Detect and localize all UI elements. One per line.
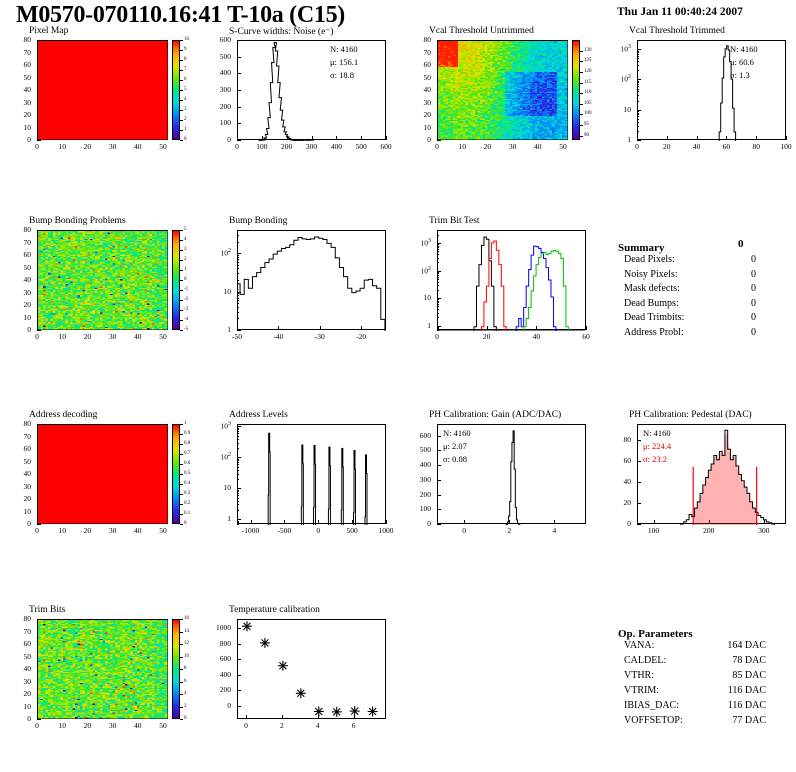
colorbar-tick-label: 4: [184, 237, 187, 242]
parameter-label: VANA:: [624, 640, 654, 651]
x-tick-label: 50: [149, 526, 177, 535]
y-tick-label: 103: [205, 421, 231, 431]
x-tick-label: 500: [338, 526, 366, 535]
y-tick-label: 50: [5, 263, 31, 272]
parameter-row: Noisy Pixels:0: [618, 269, 788, 284]
colorbar-tick: [180, 240, 183, 241]
colorbar-tick-label: 7: [184, 67, 187, 72]
y-tick-label: 0: [5, 325, 31, 334]
y-tick-label: 70: [5, 238, 31, 247]
colorbar-tick: [180, 474, 183, 475]
y-tick-label: 100: [205, 118, 231, 127]
y-tick-label: 20: [5, 300, 31, 309]
parameter-label: VOFFSETOP:: [624, 715, 683, 726]
plot-pixel-map: Pixel Map0102030405001020304050607080012…: [5, 26, 190, 156]
colorbar-tick-label: 3: [184, 107, 187, 112]
y-tick-label: 70: [5, 627, 31, 636]
plot-trim-bit-test: Trim Bit Test0204060110102103: [405, 216, 590, 346]
plot-data-layer: [438, 41, 569, 141]
x-tick-label: 20: [473, 142, 501, 151]
colorbar-tick: [580, 114, 583, 115]
plot-title: S-Curve widths: Noise (e⁻): [229, 26, 334, 37]
y-tick-label: 80: [5, 35, 31, 44]
plot-title: Bump Bonding Problems: [29, 216, 126, 226]
colorbar-tick: [180, 270, 183, 271]
x-tick-label: 20: [653, 142, 681, 151]
colorbar-tick-label: 0: [184, 716, 187, 721]
colorbar-tick: [180, 424, 183, 425]
x-tick-label: 30: [99, 721, 127, 730]
plot-title: Pixel Map: [29, 26, 68, 36]
colorbar-tick-label: 6: [184, 679, 187, 684]
y-tick-label: 0: [205, 135, 231, 144]
stat-N: N: 4160: [443, 428, 471, 438]
colorbar-tick-label: 0: [184, 277, 187, 282]
x-tick-label: 30: [99, 526, 127, 535]
colorbar-tick-label: 5: [184, 87, 187, 92]
x-tick-label: 200: [695, 526, 723, 535]
x-tick-label: 60: [712, 142, 740, 151]
y-tick-label: 20: [5, 494, 31, 503]
y-tick-label: 200: [205, 102, 231, 111]
y-tick-label: 1: [405, 321, 431, 330]
parameter-label: VTHR:: [624, 670, 654, 681]
y-tick-label: 60: [5, 60, 31, 69]
x-tick-label: 30: [99, 332, 127, 341]
y-tick-label: 0: [205, 701, 231, 710]
x-tick-label: 0: [450, 526, 478, 535]
colorbar-tick: [180, 454, 183, 455]
x-tick-label: 100: [248, 142, 276, 151]
y-tick-label: 80: [405, 35, 431, 44]
parameter-value: 116 DAC: [726, 700, 766, 711]
x-tick-label: 40: [522, 332, 550, 341]
plot-temperature-calibration: Temperature calibration02460200400600800…: [205, 605, 390, 735]
colorbar-tick-label: 4: [184, 691, 187, 696]
colorbar-tick: [180, 310, 183, 311]
y-tick-label: 70: [405, 48, 431, 57]
x-tick-label: 500: [347, 142, 375, 151]
colorbar-tick-label: 0.5: [184, 471, 190, 476]
y-tick-label: 300: [205, 85, 231, 94]
stat-mu: μ: 2.07: [443, 441, 467, 451]
x-tick-label: 600: [372, 142, 400, 151]
colorbar-tick: [180, 50, 183, 51]
y-tick-label: 20: [5, 110, 31, 119]
y-tick-label: 10: [605, 105, 631, 114]
colorbar-tick: [180, 100, 183, 101]
y-tick-label: 80: [5, 225, 31, 234]
plot-data-layer: [38, 425, 169, 525]
stat-mu: μ: 156.1: [330, 57, 358, 67]
plot-title: Address Levels: [229, 410, 288, 420]
colorbar-tick: [180, 669, 183, 670]
y-tick-label: 0: [405, 519, 431, 528]
y-tick-label: 102: [205, 452, 231, 462]
y-tick-label: 80: [5, 614, 31, 623]
y-tick-label: 400: [205, 670, 231, 679]
y-tick-label: 50: [5, 652, 31, 661]
y-tick-label: 500: [205, 52, 231, 61]
colorbar-tick-label: 0.6: [184, 461, 190, 466]
y-tick-label: 1: [205, 514, 231, 523]
parameter-value: 77 DAC: [726, 715, 766, 726]
plot-data-layer: [438, 425, 587, 525]
plot-title: Vcal Threshold Trimmed: [629, 26, 725, 36]
colorbar-tick: [180, 484, 183, 485]
colorbar-tick: [180, 230, 183, 231]
colorbar-tick: [580, 83, 583, 84]
y-tick-label: 50: [405, 73, 431, 82]
colorbar-tick-label: 10: [184, 37, 189, 42]
colorbar-tick: [180, 300, 183, 301]
colorbar-tick-label: 115: [584, 80, 591, 85]
x-tick-label: -500: [270, 526, 298, 535]
y-tick-label: 70: [5, 48, 31, 57]
colorbar-tick: [180, 110, 183, 111]
x-tick-label: 2: [268, 721, 296, 730]
colorbar-tick: [180, 524, 183, 525]
y-tick-label: 80: [605, 435, 631, 444]
colorbar-tick-label: 110: [584, 90, 591, 95]
x-tick-label: 30: [99, 142, 127, 151]
colorbar-tick-label: -1: [184, 287, 188, 292]
x-tick-label: 20: [73, 142, 101, 151]
colorbar-tick: [180, 290, 183, 291]
colorbar-tick-label: 0.4: [184, 481, 190, 486]
y-tick-label: 200: [205, 685, 231, 694]
y-tick-label: 80: [5, 419, 31, 428]
colorbar-tick-label: 125: [584, 58, 592, 63]
y-tick-label: 102: [605, 74, 631, 84]
colorbar-tick-label: 0.8: [184, 441, 190, 446]
x-tick-label: 1000: [372, 526, 400, 535]
parameter-row: Dead Trimbits:0: [618, 312, 788, 327]
parameter-row: Address Probl:0: [618, 327, 788, 342]
parameter-value: 0: [716, 254, 756, 265]
x-tick-label: 10: [448, 142, 476, 151]
colorbar-tick: [180, 444, 183, 445]
x-tick-label: 40: [124, 721, 152, 730]
parameter-value: 0: [716, 298, 756, 309]
x-tick-label: 50: [149, 142, 177, 151]
y-tick-label: 500: [405, 445, 431, 454]
plot-title: PH Calibration: Gain (ADC/DAC): [429, 410, 561, 420]
y-tick-label: 60: [605, 456, 631, 465]
plot-title: Address decoding: [29, 410, 97, 420]
x-tick-label: 40: [124, 142, 152, 151]
colorbar-tick: [180, 494, 183, 495]
colorbar-tick-label: 0.7: [184, 451, 190, 456]
colorbar-tick: [180, 260, 183, 261]
colorbar-tick: [580, 104, 583, 105]
y-tick-label: 0: [5, 135, 31, 144]
y-tick-label: 600: [205, 35, 231, 44]
colorbar-tick-label: 10: [184, 654, 189, 659]
colorbar-tick-label: 1: [184, 127, 187, 132]
colorbar-tick: [180, 619, 183, 620]
colorbar-tick: [180, 140, 183, 141]
x-tick-label: 100: [640, 526, 668, 535]
y-tick-label: 30: [5, 482, 31, 491]
colorbar-tick-label: 4: [184, 97, 187, 102]
y-tick-label: 600: [205, 654, 231, 663]
y-tick-label: 10: [405, 123, 431, 132]
colorbar-tick: [180, 657, 183, 658]
colorbar-tick-label: -3: [184, 307, 188, 312]
stat-N: N: 4160: [730, 44, 758, 54]
y-tick-label: 1: [605, 135, 631, 144]
y-tick-label: 10: [5, 123, 31, 132]
x-tick-label: 40: [683, 142, 711, 151]
plot-data-layer: [238, 231, 387, 331]
y-tick-label: 0: [5, 714, 31, 723]
plot-vcal-threshold-untrimmed: Vcal Threshold Untrimmed0102030405001020…: [405, 26, 590, 156]
colorbar-tick: [180, 694, 183, 695]
parameter-label: Dead Bumps:: [624, 298, 679, 309]
x-tick-label: 0: [304, 526, 332, 535]
x-tick-label: 40: [124, 332, 152, 341]
plot-data-layer: [238, 425, 387, 525]
x-tick-label: 10: [48, 526, 76, 535]
colorbar-tick-label: 1: [184, 421, 187, 426]
y-tick-label: 60: [5, 250, 31, 259]
colorbar-tick-label: 105: [584, 101, 592, 106]
y-tick-label: 50: [5, 457, 31, 466]
plot-address-levels: Address Levels-1000-50005001000110102103: [205, 410, 390, 540]
plot-title: Trim Bits: [29, 605, 65, 615]
y-tick-label: 30: [5, 98, 31, 107]
stat-sigma: σ: 23.2: [643, 454, 667, 464]
colorbar-tick-label: 0.9: [184, 431, 190, 436]
colorbar-tick-label: 16: [184, 616, 189, 621]
plot-address-decoding: Address decoding010203040500102030405060…: [5, 410, 190, 540]
plot-ph-calibration-pedestal: PH Calibration: Pedestal (DAC)1002003000…: [605, 410, 790, 540]
x-tick-label: 2: [495, 526, 523, 535]
y-tick-label: 40: [605, 477, 631, 486]
colorbar-tick-label: 12: [184, 641, 189, 646]
stat-sigma: σ: 0.08: [443, 454, 467, 464]
colorbar-tick-label: -4: [184, 317, 188, 322]
x-tick-label: 200: [273, 142, 301, 151]
x-tick-label: 50: [149, 332, 177, 341]
colorbar-tick-label: 120: [584, 69, 592, 74]
y-tick-label: 300: [405, 475, 431, 484]
timestamp: Thu Jan 11 00:40:24 2007: [617, 6, 743, 18]
summary-heading-value: 0: [738, 238, 744, 250]
y-tick-label: 30: [405, 98, 431, 107]
colorbar: [172, 40, 180, 140]
parameter-value: 0: [716, 312, 756, 323]
colorbar: [172, 230, 180, 330]
plot-data-layer: [38, 41, 169, 141]
parameter-row: IBIAS_DAC:116 DAC: [618, 700, 793, 715]
plot-title: PH Calibration: Pedestal (DAC): [629, 410, 752, 420]
colorbar-tick: [580, 93, 583, 94]
colorbar-tick-label: 90: [584, 133, 589, 138]
x-tick-label: 30: [499, 142, 527, 151]
colorbar-tick: [180, 330, 183, 331]
parameter-value: 164 DAC: [726, 640, 766, 651]
y-tick-label: 30: [5, 677, 31, 686]
x-tick-label: 4: [304, 721, 332, 730]
y-tick-label: 1000: [205, 623, 231, 632]
y-tick-label: 20: [605, 498, 631, 507]
y-tick-label: 30: [5, 288, 31, 297]
y-tick-label: 100: [405, 504, 431, 513]
x-tick-label: -1000: [237, 526, 265, 535]
plot-data-layer: [38, 231, 169, 331]
colorbar-tick: [180, 40, 183, 41]
x-tick-label: 80: [742, 142, 770, 151]
parameter-value: 0: [716, 283, 756, 294]
parameter-row: Dead Pixels:0: [618, 254, 788, 269]
y-tick-label: 10: [205, 483, 231, 492]
colorbar-tick: [180, 80, 183, 81]
colorbar-tick: [180, 682, 183, 683]
x-tick-label: 10: [48, 721, 76, 730]
plot-title: Temperature calibration: [229, 605, 320, 615]
colorbar-tick: [180, 250, 183, 251]
summary-panel: Summary 0 Dead Pixels:0Noisy Pixels:0Mas…: [618, 238, 788, 341]
x-tick-label: 60: [572, 332, 600, 341]
summary-heading: Summary: [618, 242, 664, 254]
parameter-label: Dead Trimbits:: [624, 312, 684, 323]
colorbar-tick: [180, 120, 183, 121]
x-tick-label: 300: [750, 526, 778, 535]
colorbar-tick: [580, 125, 583, 126]
x-tick-label: 20: [473, 332, 501, 341]
parameter-row: VANA:164 DAC: [618, 640, 793, 655]
y-tick-label: 40: [5, 664, 31, 673]
y-tick-label: 70: [5, 432, 31, 441]
plot-data-layer: [638, 41, 787, 141]
colorbar-tick-label: -2: [184, 297, 188, 302]
op-parameters-panel: Op. Parameters VANA:164 DACCALDEL:78 DAC…: [618, 624, 793, 730]
parameter-value: 0: [716, 269, 756, 280]
colorbar-tick-label: 1: [184, 267, 187, 272]
x-tick-label: 40: [524, 142, 552, 151]
plot-data-layer: [38, 620, 169, 720]
y-tick-label: 10: [5, 702, 31, 711]
plot-ph-calibration-gain: PH Calibration: Gain (ADC/DAC)0240100200…: [405, 410, 590, 540]
y-tick-label: 40: [5, 85, 31, 94]
parameter-label: Mask defects:: [624, 283, 680, 294]
colorbar-tick-label: 0: [184, 521, 187, 526]
page-title: M0570-070110.16:41 T-10a (C15): [16, 2, 345, 29]
colorbar-tick-label: 5: [184, 227, 187, 232]
y-tick-label: 10: [5, 507, 31, 516]
colorbar-tick: [180, 632, 183, 633]
colorbar-tick-label: 3: [184, 247, 187, 252]
y-tick-label: 0: [405, 135, 431, 144]
colorbar-tick-label: 130: [584, 48, 592, 53]
x-tick-label: 6: [340, 721, 368, 730]
colorbar-tick-label: 8: [184, 57, 187, 62]
y-tick-label: 40: [405, 85, 431, 94]
colorbar-tick: [180, 70, 183, 71]
colorbar-tick: [180, 719, 183, 720]
x-tick-label: 0: [232, 721, 260, 730]
colorbar-tick-label: 2: [184, 257, 187, 262]
colorbar-tick-label: 8: [184, 666, 187, 671]
colorbar-tick: [180, 90, 183, 91]
colorbar: [572, 40, 580, 140]
parameter-row: Mask defects:0: [618, 283, 788, 298]
plot-title: Bump Bonding: [229, 216, 287, 226]
colorbar-tick-label: 9: [184, 47, 187, 52]
colorbar-tick-label: -5: [184, 327, 188, 332]
colorbar: [172, 424, 180, 524]
x-tick-label: 40: [124, 526, 152, 535]
y-tick-label: 60: [5, 639, 31, 648]
parameter-row: VTHR:85 DAC: [618, 670, 793, 685]
y-tick-label: 1: [205, 325, 231, 334]
plot-bump-bonding-problems: Bump Bonding Problems0102030405001020304…: [5, 216, 190, 346]
y-tick-label: 800: [205, 639, 231, 648]
y-tick-label: 10: [405, 293, 431, 302]
y-tick-label: 102: [405, 266, 431, 276]
parameter-label: IBIAS_DAC:: [624, 700, 679, 711]
parameter-row: VOFFSETOP:77 DAC: [618, 715, 793, 730]
plot-bump-bonding: Bump Bonding-50-40-30-20110102: [205, 216, 390, 346]
plot-data-layer: [238, 620, 387, 720]
colorbar-tick-label: 2: [184, 117, 187, 122]
x-tick-label: 20: [73, 526, 101, 535]
plot-title: Trim Bit Test: [429, 216, 480, 226]
stat-sigma: σ: 1.3: [730, 70, 750, 80]
colorbar-tick: [180, 464, 183, 465]
colorbar-tick: [180, 644, 183, 645]
colorbar-tick: [180, 707, 183, 708]
colorbar-tick: [580, 51, 583, 52]
x-tick-label: 10: [48, 142, 76, 151]
colorbar-tick: [180, 504, 183, 505]
colorbar-tick-label: 0.1: [184, 511, 190, 516]
colorbar-tick-label: 2: [184, 704, 187, 709]
op-parameters-heading: Op. Parameters: [618, 628, 693, 640]
colorbar-tick: [580, 72, 583, 73]
stat-mu: μ: 60.6: [730, 57, 754, 67]
y-tick-label: 40: [5, 469, 31, 478]
colorbar-tick-label: 100: [584, 111, 592, 116]
x-tick-label: 10: [48, 332, 76, 341]
y-tick-label: 400: [205, 68, 231, 77]
stat-sigma: σ: 18.8: [330, 70, 354, 80]
x-tick-label: -40: [264, 332, 292, 341]
colorbar-tick-label: 0.3: [184, 491, 190, 496]
y-tick-label: 400: [405, 460, 431, 469]
y-tick-label: 20: [405, 110, 431, 119]
colorbar-tick-label: 95: [584, 122, 589, 127]
y-tick-label: 103: [605, 44, 631, 54]
x-tick-label: 50: [549, 142, 577, 151]
y-tick-label: 60: [5, 444, 31, 453]
x-tick-label: 400: [322, 142, 350, 151]
x-tick-label: -30: [306, 332, 334, 341]
plot-title: Vcal Threshold Untrimmed: [429, 26, 534, 36]
y-tick-label: 20: [5, 689, 31, 698]
y-tick-label: 10: [205, 287, 231, 296]
colorbar-tick: [580, 61, 583, 62]
x-tick-label: 50: [149, 721, 177, 730]
colorbar-tick: [180, 320, 183, 321]
colorbar-tick: [180, 60, 183, 61]
plot-trim-bits: Trim Bits0102030405001020304050607080024…: [5, 605, 190, 735]
colorbar-tick: [180, 434, 183, 435]
colorbar-tick: [180, 280, 183, 281]
colorbar-tick-label: 14: [184, 629, 189, 634]
